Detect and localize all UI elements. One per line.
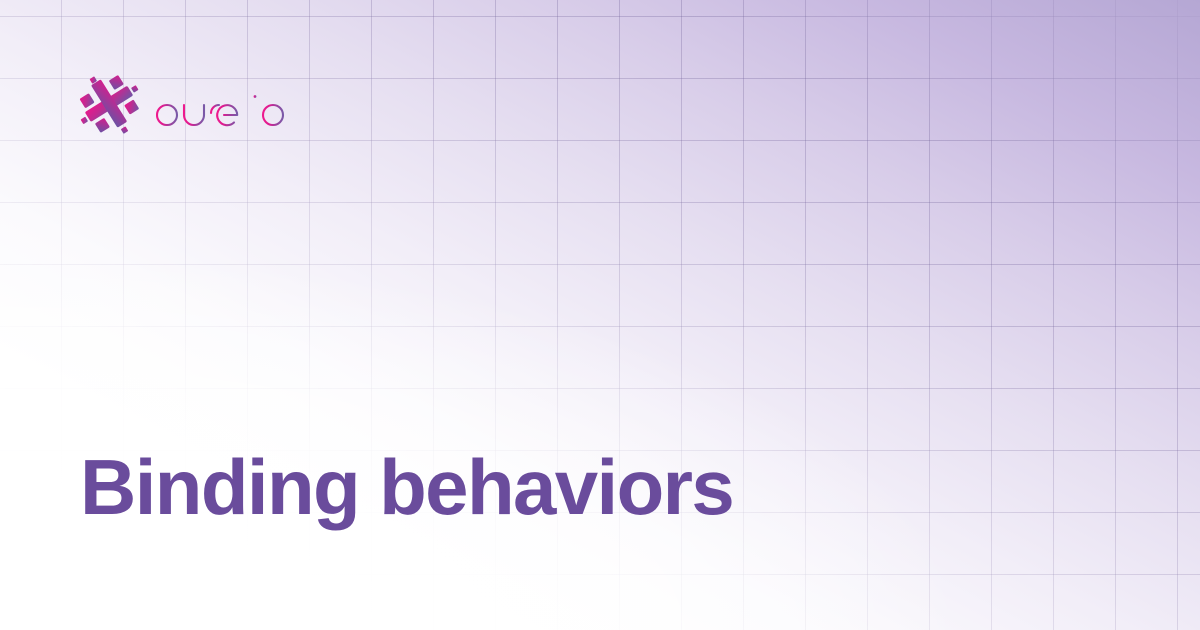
brand-lockup[interactable]: aurelia xyxy=(76,72,308,142)
page-title: Binding behaviors xyxy=(80,444,1120,531)
aurelia-wordmark: aurelia xyxy=(156,84,308,136)
aurelia-hash-mark-icon xyxy=(76,72,146,142)
social-share-card: aurelia Binding behaviors xyxy=(0,0,1200,630)
